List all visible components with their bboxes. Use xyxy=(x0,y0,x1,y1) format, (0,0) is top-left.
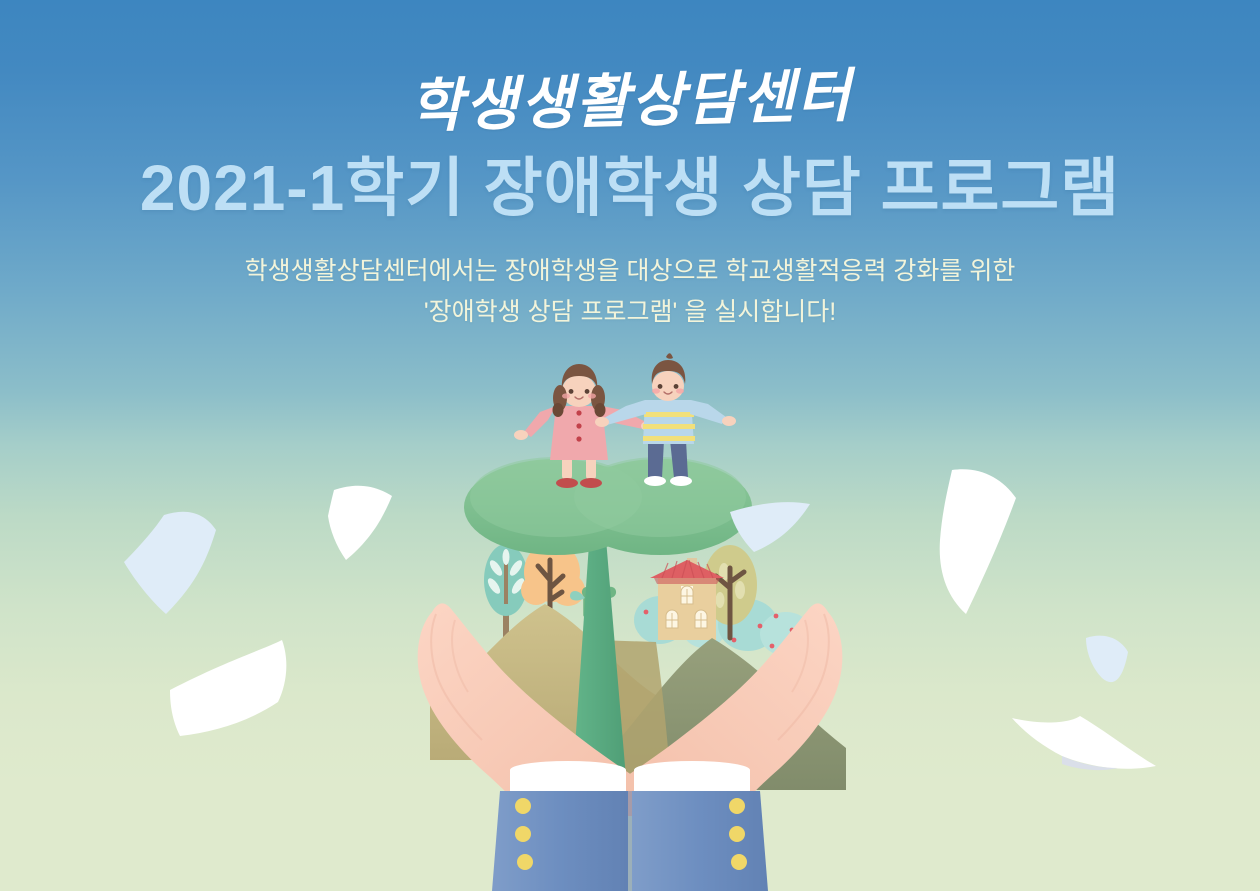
description-line-1: 학생생활상담센터에서는 장애학생을 대상으로 학교생활적응력 강화를 위한 xyxy=(245,257,1016,285)
paper-2 xyxy=(328,486,392,560)
paper-1 xyxy=(124,512,216,614)
page-title: 2021-1학기 장애학생 상담 프로그램 xyxy=(0,134,1260,226)
girl-hand-left xyxy=(514,430,528,440)
right-sleeve-buttons xyxy=(729,798,747,870)
boy-arm-right xyxy=(690,400,726,424)
boy-hand-right xyxy=(722,416,736,426)
girl-arm-left xyxy=(524,406,556,437)
right-sleeve xyxy=(632,791,768,891)
boy-shoe-right xyxy=(670,476,692,486)
boy-stripe-1 xyxy=(644,412,694,417)
poster-canvas: 학생생활상담센터 2021-1학기 장애학생 상담 프로그램 학생생활상담센터에… xyxy=(0,0,1260,891)
poster-text-block: 학생생활상담센터 2021-1학기 장애학생 상담 프로그램 학생생활상담센터에… xyxy=(0,0,1260,332)
boy-face xyxy=(652,371,684,401)
boy-leg-left xyxy=(648,440,664,478)
paper-3 xyxy=(170,640,286,736)
girl-face xyxy=(562,375,596,407)
boy-shoe-left xyxy=(644,476,666,486)
poster-description: 학생생활상담센터에서는 장애학생을 대상으로 학교생활적응력 강화를 위한 '장… xyxy=(130,225,1130,332)
boy-hand-left xyxy=(595,417,609,427)
left-sleeve xyxy=(492,791,628,891)
girl-shoe-right xyxy=(580,478,602,488)
girl-shoe-left xyxy=(556,478,578,488)
boy-stripe-3 xyxy=(643,436,695,441)
boy-stripe-2 xyxy=(643,424,695,429)
left-sleeve-buttons xyxy=(515,798,533,870)
paper-5 xyxy=(940,469,1016,614)
paper-6 xyxy=(1086,636,1128,682)
paper-4 xyxy=(730,502,810,552)
paper-7 xyxy=(1012,716,1156,769)
description-line-2: '장애학생 상담 프로그램' 을 실시합니다! xyxy=(130,292,1130,333)
organization-name: 학생생활상담센터 xyxy=(0,0,1260,149)
